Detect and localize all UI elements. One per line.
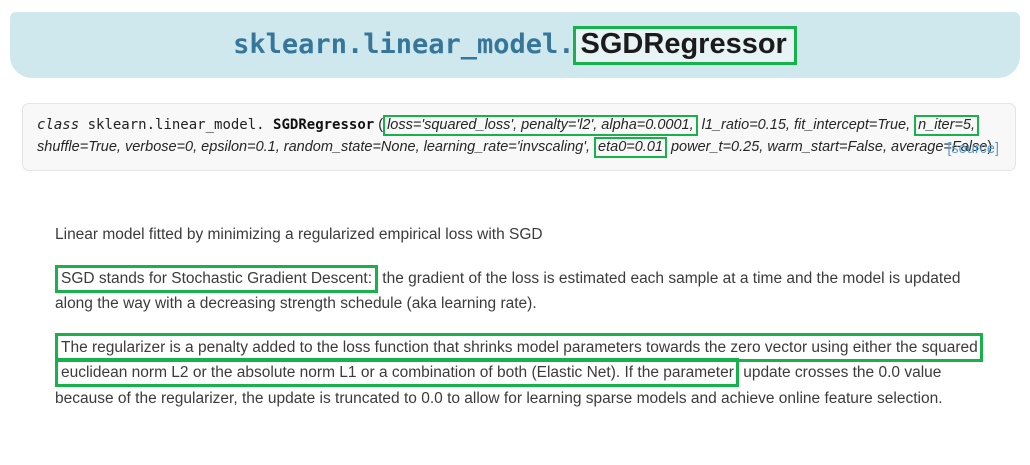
page-header-banner: sklearn.linear_model. SGDRegressor xyxy=(10,12,1020,78)
signature-params-highlight-1: loss='squared_loss', penalty='l2', alpha… xyxy=(383,115,698,136)
class-name-highlight-box: SGDRegressor xyxy=(573,26,797,65)
sgd-definition-highlight: SGD stands for Stochastic Gradient Desce… xyxy=(55,265,378,293)
paragraph-regularizer: The regularizer is a penalty added to th… xyxy=(55,335,990,410)
paragraph-summary: Linear model fitted by minimizing a regu… xyxy=(55,222,990,247)
description-body: Linear model fitted by minimizing a regu… xyxy=(55,222,990,411)
paragraph-summary-text: Linear model fitted by minimizing a regu… xyxy=(55,226,543,243)
paragraph-sgd: SGD stands for Stochastic Gradient Desce… xyxy=(55,266,990,316)
signature-class-name: SGDRegressor xyxy=(273,117,374,133)
signature-params-highlight-3: eta0=0.01 xyxy=(594,137,667,158)
page-title: sklearn.linear_model. SGDRegressor xyxy=(233,26,797,65)
module-path-prefix: sklearn.linear_model. xyxy=(233,29,574,60)
source-link[interactable]: [source] xyxy=(947,138,999,160)
documentation-page: sklearn.linear_model. SGDRegressor class… xyxy=(0,0,1030,465)
signature-module-path: sklearn.linear_model. xyxy=(88,117,265,133)
class-signature-block: class sklearn.linear_model. SGDRegressor… xyxy=(22,103,1016,171)
signature-params-plain-1: l1_ratio=0.15, fit_intercept=True, xyxy=(698,117,911,133)
signature-params-plain-2: shuffle=True, verbose=0, epsilon=0.1, ra… xyxy=(37,139,590,155)
signature-keyword: class xyxy=(37,117,79,133)
class-name-label: SGDRegressor xyxy=(581,28,787,60)
signature-params-plain-3: power_t=0.25, warm_start=False, average=… xyxy=(667,139,987,155)
signature-params-highlight-2: n_iter=5, xyxy=(914,115,979,136)
